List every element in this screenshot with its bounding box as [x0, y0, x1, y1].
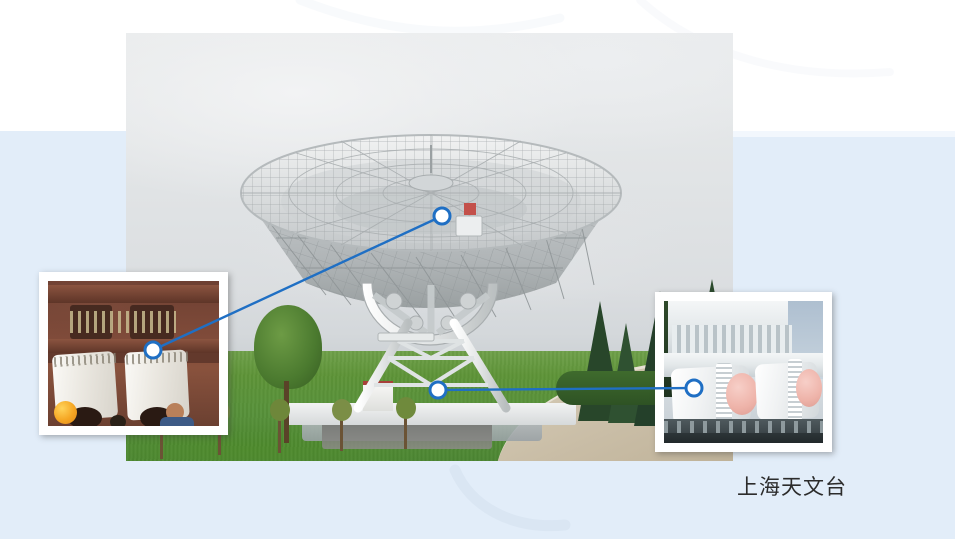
slide-canvas: 上海天文台: [0, 0, 955, 539]
pink-end-cap-left: [726, 373, 758, 415]
inset-right-new-bearing: [655, 292, 832, 452]
page-title: 上海天文台: [737, 471, 847, 501]
base-bolt-row: [664, 421, 823, 433]
worker-head-secondary: [110, 415, 126, 426]
background-right-sliver: [733, 131, 955, 137]
inset-right-image: [664, 301, 823, 443]
worker-torso: [160, 417, 194, 426]
inset-left-old-bearing: [39, 272, 228, 435]
inset-left-image: [48, 281, 219, 426]
ground-shadow: [664, 433, 823, 443]
orange-marker-dot: [54, 401, 77, 424]
rust-bolt-row: [70, 311, 176, 333]
rust-beam-mid: [48, 339, 219, 353]
pink-end-cap-right: [796, 369, 822, 407]
rust-beam-top: [48, 285, 219, 303]
